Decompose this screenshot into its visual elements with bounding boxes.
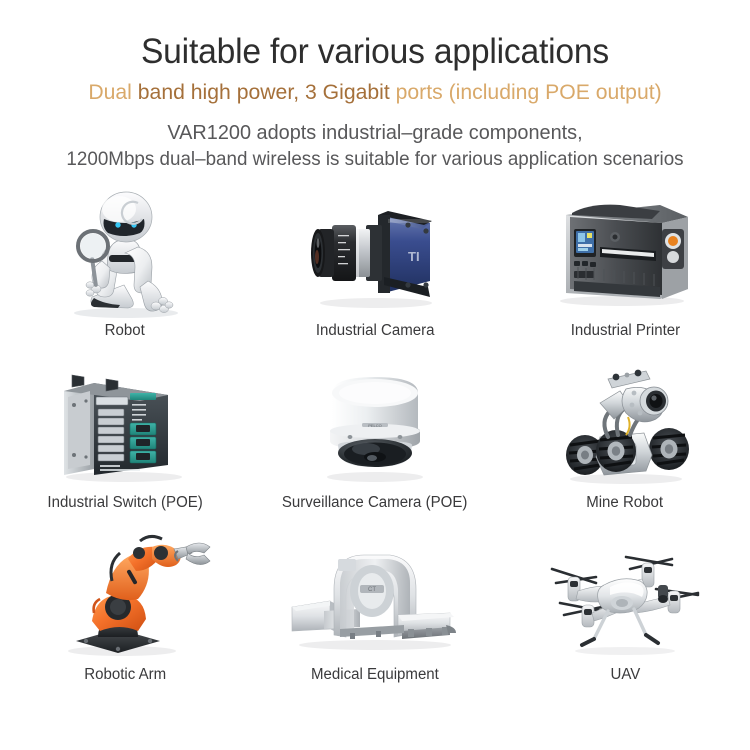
poster-subtitle: Dual band high power, 3 Gigabit ports (i… bbox=[6, 78, 745, 106]
svg-text:CT: CT bbox=[368, 587, 376, 593]
application-label: Industrial Camera bbox=[316, 322, 435, 340]
application-label: Robot bbox=[105, 322, 145, 340]
application-cell-mine-robot: Mine Robot bbox=[500, 357, 750, 529]
application-label: Industrial Switch (POE) bbox=[47, 494, 202, 512]
svg-text:TI: TI bbox=[408, 249, 420, 264]
application-cell-medical-equipment: CT Medical Equipment bbox=[250, 529, 500, 701]
robot-thumbnail bbox=[30, 185, 220, 322]
application-label: Surveillance Camera (POE) bbox=[282, 494, 467, 512]
industrial-switch-icon bbox=[30, 357, 220, 494]
application-label: Mine Robot bbox=[587, 494, 664, 512]
dome-camera-thumbnail: PELCO bbox=[280, 357, 470, 494]
application-cell-robot: Robot bbox=[0, 185, 250, 357]
mine-robot-icon bbox=[530, 357, 720, 494]
ct-scanner-icon: CT bbox=[280, 529, 470, 666]
quadcopter-drone-thumbnail bbox=[530, 529, 720, 666]
robot-icon bbox=[30, 185, 220, 322]
poster-header: Suitable for various applications Dual b… bbox=[0, 0, 750, 173]
application-cell-industrial-printer: Industrial Printer bbox=[500, 185, 750, 357]
application-cell-surveillance-camera: PELCO Surveillance Camera (POE) bbox=[250, 357, 500, 529]
quadcopter-drone-icon bbox=[530, 529, 720, 666]
ct-scanner-thumbnail: CT bbox=[280, 529, 470, 666]
description-line-2: 1200Mbps dual–band wireless is suitable … bbox=[13, 146, 737, 173]
application-cell-robotic-arm: Robotic Arm bbox=[0, 529, 250, 701]
application-cell-industrial-switch: Industrial Switch (POE) bbox=[0, 357, 250, 529]
subtitle-segment-dark: band high power, 3 Gigabit bbox=[138, 80, 390, 104]
application-label: UAV bbox=[610, 666, 640, 684]
application-grid: Robot bbox=[0, 185, 750, 701]
description-line-1: VAR1200 adopts industrial–grade componen… bbox=[11, 119, 739, 146]
application-label: Robotic Arm bbox=[84, 666, 166, 684]
industrial-camera-thumbnail: TI bbox=[280, 185, 470, 322]
svg-text:PELCO: PELCO bbox=[368, 423, 382, 428]
subtitle-segment-light-lead: Dual bbox=[88, 80, 137, 104]
industrial-printer-icon bbox=[530, 185, 720, 322]
robotic-arm-thumbnail bbox=[30, 529, 220, 666]
industrial-camera-icon: TI bbox=[280, 185, 470, 322]
robotic-arm-icon bbox=[30, 529, 220, 666]
industrial-switch-thumbnail bbox=[30, 357, 220, 494]
dome-camera-icon: PELCO bbox=[280, 357, 470, 494]
application-cell-uav: UAV bbox=[500, 529, 750, 701]
product-feature-poster: Suitable for various applications Dual b… bbox=[0, 0, 750, 750]
subtitle-segment-light-tail: ports (including POE output) bbox=[390, 80, 662, 104]
industrial-printer-thumbnail bbox=[530, 185, 720, 322]
application-label: Medical Equipment bbox=[311, 666, 439, 684]
application-label: Industrial Printer bbox=[570, 322, 679, 340]
application-cell-industrial-camera: TI Indu bbox=[250, 185, 500, 357]
page-title: Suitable for various applications bbox=[15, 30, 735, 74]
mine-robot-thumbnail bbox=[530, 357, 720, 494]
poster-description: VAR1200 adopts industrial–grade componen… bbox=[0, 119, 750, 173]
